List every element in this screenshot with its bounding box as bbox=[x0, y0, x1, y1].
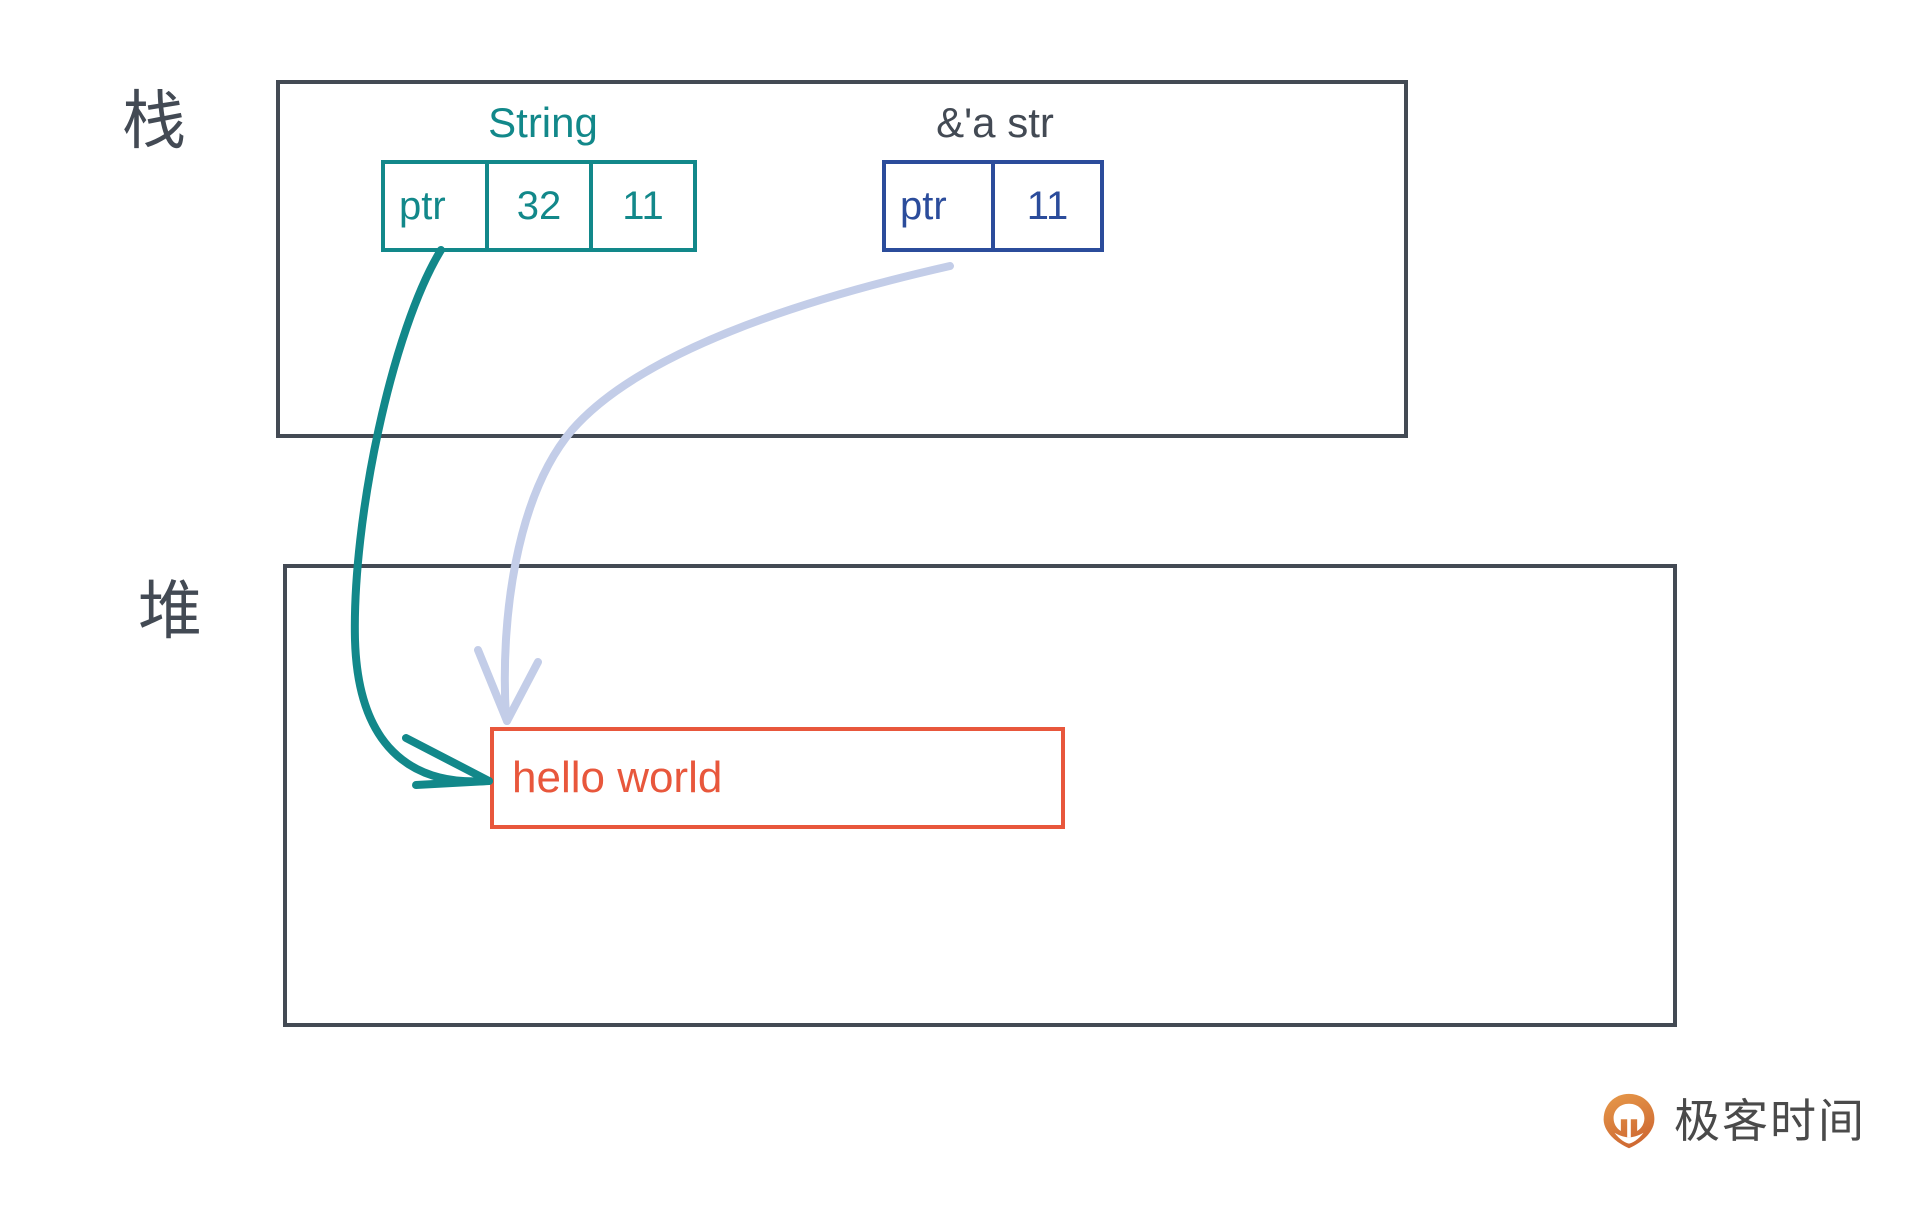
str-ref-cell-length: 11 bbox=[991, 160, 1104, 252]
string-struct-label: String bbox=[381, 102, 705, 144]
diagram-canvas: 栈 堆 String ptr 32 11 &'a str ptr 11 hell… bbox=[0, 0, 1913, 1206]
heap-allocation-box: hello world bbox=[490, 727, 1065, 829]
str-ref-cell-ptr: ptr bbox=[882, 160, 995, 252]
brand-logo: 极客时间 bbox=[1600, 1092, 1866, 1150]
heap-region-label: 堆 bbox=[138, 580, 202, 644]
geektime-mark-icon bbox=[1600, 1092, 1658, 1150]
brand-name: 极客时间 bbox=[1674, 1098, 1866, 1144]
string-cell-length: 11 bbox=[589, 160, 697, 252]
string-struct-cells: ptr 32 11 bbox=[381, 160, 693, 252]
stack-region-label: 栈 bbox=[122, 90, 186, 154]
str-ref-struct-label: &'a str bbox=[882, 102, 1108, 144]
str-ref-struct-cells: ptr 11 bbox=[882, 160, 1100, 252]
string-cell-ptr: ptr bbox=[381, 160, 489, 252]
string-cell-capacity: 32 bbox=[485, 160, 593, 252]
heap-allocation-text: hello world bbox=[512, 756, 722, 800]
